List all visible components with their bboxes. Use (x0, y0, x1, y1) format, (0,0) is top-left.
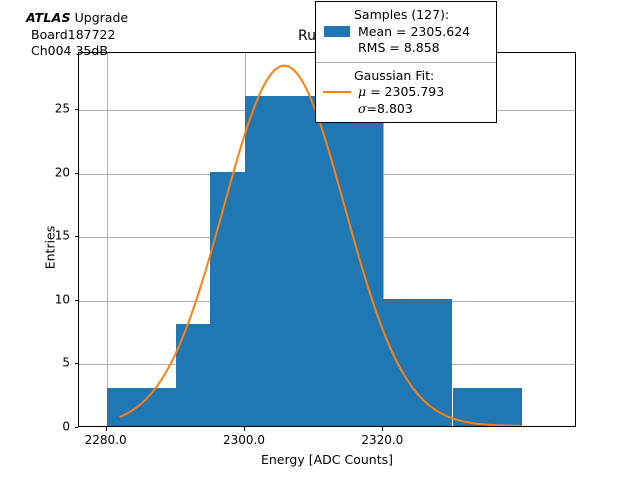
legend-line-swatch (323, 91, 351, 93)
atlas-suffix: Upgrade (71, 10, 128, 25)
x-tick-label: 2320.0 (361, 434, 403, 447)
legend-entry: Gaussian Fit:μ = 2305.793σ=8.803 (316, 62, 496, 123)
histogram-bar (453, 388, 522, 426)
histogram-bar (245, 96, 349, 427)
y-tick-mark (75, 363, 79, 364)
histogram-bar (107, 388, 176, 426)
y-tick-mark (75, 300, 79, 301)
histogram-bar (349, 108, 384, 426)
legend-swatch-cell (320, 26, 354, 37)
legend-greek-symbol: μ (358, 84, 366, 99)
legend-patch-swatch (324, 26, 350, 37)
legend-label-line: σ=8.803 (354, 101, 444, 118)
histogram-figure: Run 589 2280.02300.02320.00510152025 Ene… (0, 0, 640, 480)
x-tick-mark (244, 427, 245, 431)
legend-label-line: Gaussian Fit: (354, 68, 444, 85)
y-tick-label: 0 (30, 421, 70, 434)
legend-swatch-cell (320, 91, 354, 93)
legend-label-line: Samples (127): (354, 7, 470, 24)
legend-label-line: μ = 2305.793 (354, 84, 444, 101)
y-tick-mark (75, 236, 79, 237)
x-tick-label: 2280.0 (85, 434, 127, 447)
board-label: Board187722 (26, 27, 128, 44)
histogram-bar (210, 172, 245, 426)
y-tick-label: 5 (30, 357, 70, 370)
x-tick-mark (106, 427, 107, 431)
x-axis-label: Energy [ADC Counts] (78, 452, 576, 467)
y-tick-mark (75, 173, 79, 174)
legend-label: Samples (127):Mean = 2305.624RMS = 8.858 (354, 7, 470, 57)
y-tick-mark (75, 109, 79, 110)
y-tick-mark (75, 427, 79, 428)
x-tick-label: 2300.0 (223, 434, 265, 447)
legend-label: Gaussian Fit:μ = 2305.793σ=8.803 (354, 68, 444, 118)
legend-entry: Samples (127):Mean = 2305.624RMS = 8.858 (316, 2, 496, 62)
atlas-annotation: ATLAS Upgrade Board187722 Ch004 35dB (26, 10, 128, 60)
y-tick-label: 20 (30, 166, 70, 179)
legend-label-line: RMS = 8.858 (354, 40, 470, 57)
chart-legend: Samples (127):Mean = 2305.624RMS = 8.858… (315, 1, 497, 123)
x-tick-mark (382, 427, 383, 431)
y-tick-label: 25 (30, 103, 70, 116)
legend-label-line: Mean = 2305.624 (354, 24, 470, 41)
channel-label: Ch004 35dB (26, 43, 128, 60)
y-axis-label: Entries (43, 188, 58, 308)
histogram-bar (176, 324, 211, 426)
legend-greek-symbol: σ (358, 101, 367, 116)
histogram-bar (383, 299, 452, 426)
atlas-label: ATLAS (26, 10, 71, 25)
